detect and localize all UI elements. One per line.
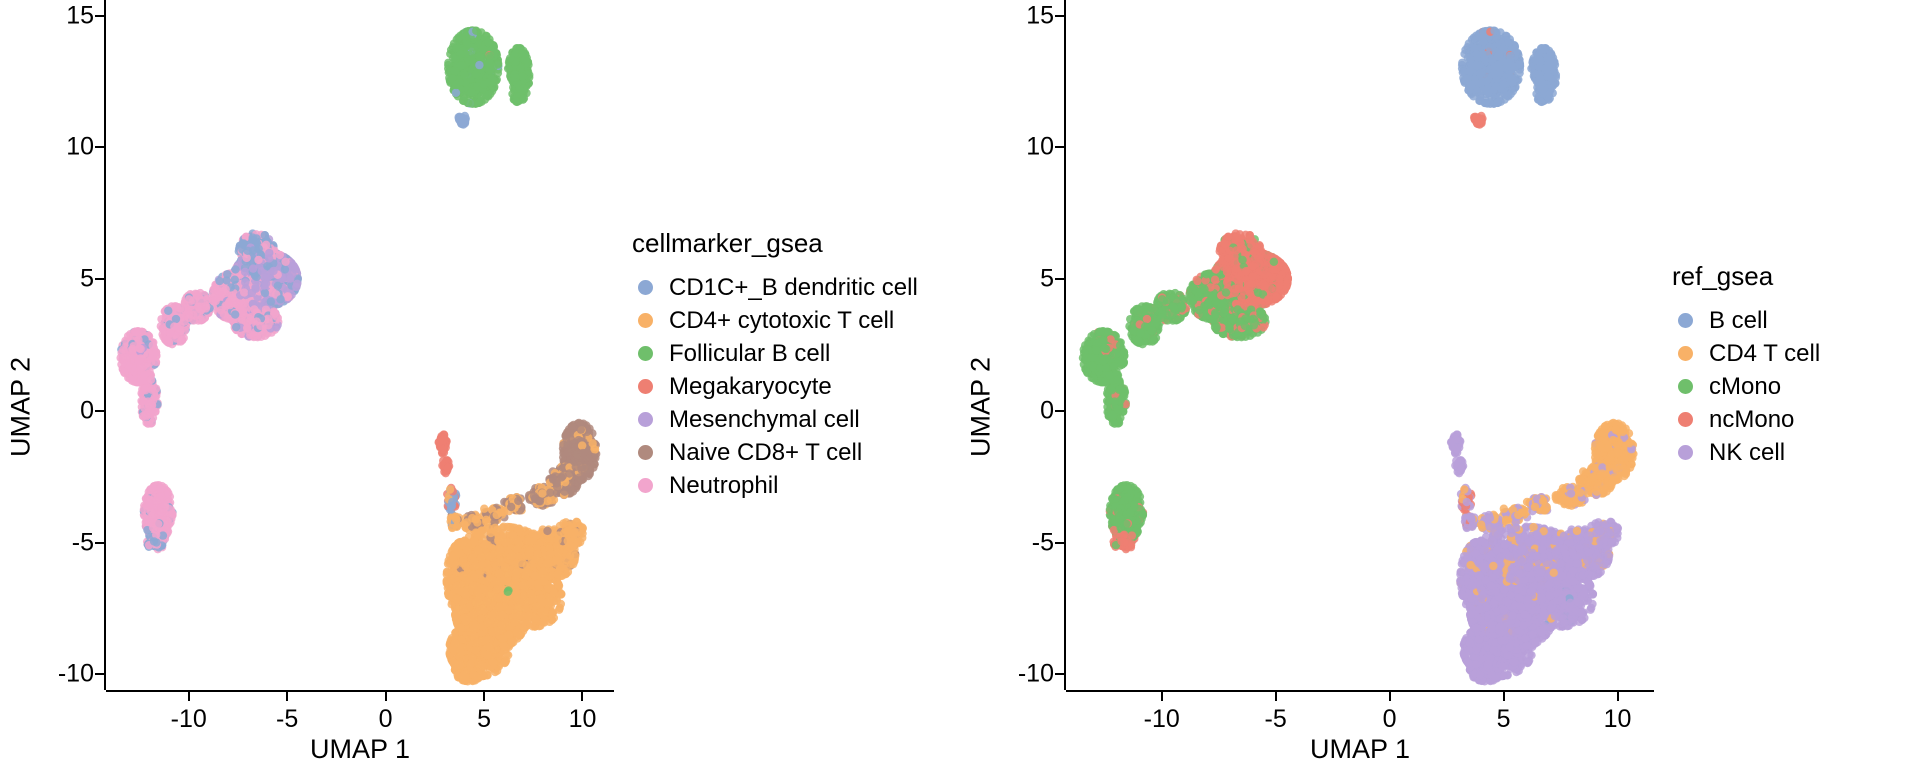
y-tick-label: 0: [80, 396, 94, 425]
legend-key-dot-icon: [630, 372, 660, 402]
legend-item[interactable]: CD4 T cell: [1670, 339, 1920, 369]
y-axis-ticks-right: -10-5051015: [1002, 0, 1064, 690]
x-tick-label: 10: [1604, 705, 1632, 734]
y-tick-mark: [1055, 146, 1064, 148]
y-tick-mark: [95, 146, 104, 148]
legend-item[interactable]: ncMono: [1670, 405, 1920, 435]
x-tick-label: 0: [379, 705, 393, 734]
plot-area-right: [1066, 0, 1654, 690]
scatter-canvas-right: [1066, 0, 1654, 690]
legend-key-dot-icon: [1670, 306, 1700, 336]
legend-item-label: NK cell: [1709, 439, 1785, 467]
x-axis-label-left: UMAP 1: [42, 732, 614, 768]
legend-title-left: cellmarker_gsea: [632, 228, 960, 259]
legend-item-label: cMono: [1709, 373, 1781, 401]
legend-key-dot-icon: [630, 438, 660, 468]
legend-ref-gsea: ref_gsea B cellCD4 T cellcMononcMonoNK c…: [1654, 0, 1920, 768]
scatter-canvas-left: [106, 0, 614, 690]
y-tick-label: 10: [1026, 133, 1054, 162]
legend-cellmarker-gsea: cellmarker_gsea CD1C+_B dendritic cellCD…: [614, 0, 960, 768]
y-tick-mark: [1055, 15, 1064, 17]
y-tick-label: 5: [80, 265, 94, 294]
x-tick-mark: [1617, 692, 1619, 701]
legend-key-dot-icon: [1670, 339, 1700, 369]
y-tick-label: 5: [1040, 265, 1054, 294]
y-tick-label: -5: [72, 528, 94, 557]
x-axis-ticks-right: -10-50510: [1066, 692, 1654, 732]
x-tick-label: 5: [477, 705, 491, 734]
legend-item[interactable]: Neutrophil: [630, 471, 960, 501]
legend-key-dot-icon: [630, 273, 660, 303]
legend-key-dot-icon: [1670, 438, 1700, 468]
y-tick-mark: [1055, 410, 1064, 412]
y-tick-mark: [95, 278, 104, 280]
y-tick-label: 15: [66, 1, 94, 30]
y-tick-label: 15: [1026, 1, 1054, 30]
legend-item[interactable]: CD1C+_B dendritic cell: [630, 273, 960, 303]
legend-item-label: ncMono: [1709, 406, 1794, 434]
legend-key-dot-icon: [1670, 405, 1700, 435]
y-axis-label-right: UMAP 2: [960, 0, 1002, 768]
y-axis-label-left: UMAP 2: [0, 0, 42, 768]
legend-item[interactable]: B cell: [1670, 306, 1920, 336]
legend-item[interactable]: Megakaryocyte: [630, 372, 960, 402]
legend-item[interactable]: CD4+ cytotoxic T cell: [630, 306, 960, 336]
y-tick-label: -5: [1032, 528, 1054, 557]
x-tick-mark: [581, 692, 583, 701]
x-tick-label: -5: [1265, 705, 1287, 734]
legend-key-dot-icon: [630, 405, 660, 435]
y-axis-ticks-left: -10-5051015: [42, 0, 104, 690]
x-tick-mark: [286, 692, 288, 701]
legend-item[interactable]: Follicular B cell: [630, 339, 960, 369]
y-tick-mark: [95, 15, 104, 17]
x-tick-mark: [188, 692, 190, 701]
legend-item[interactable]: cMono: [1670, 372, 1920, 402]
x-tick-mark: [1275, 692, 1277, 701]
legend-key-dot-icon: [630, 471, 660, 501]
x-tick-label: 0: [1383, 705, 1397, 734]
legend-item[interactable]: Naive CD8+ T cell: [630, 438, 960, 468]
legend-item[interactable]: NK cell: [1670, 438, 1920, 468]
x-tick-label: -10: [171, 705, 207, 734]
y-tick-label: 10: [66, 133, 94, 162]
x-tick-label: 5: [1497, 705, 1511, 734]
panel-ref-gsea: UMAP 2 -10-5051015 -10-50510 UMAP 1 ref_…: [960, 0, 1920, 768]
y-tick-mark: [1055, 673, 1064, 675]
y-tick-label: -10: [58, 660, 94, 689]
x-tick-label: -10: [1144, 705, 1180, 734]
legend-key-dot-icon: [630, 339, 660, 369]
legend-item-label: B cell: [1709, 307, 1768, 335]
x-tick-label: 10: [569, 705, 597, 734]
x-tick-mark: [385, 692, 387, 701]
y-tick-mark: [1055, 278, 1064, 280]
y-tick-label: 0: [1040, 396, 1054, 425]
x-axis-label-right: UMAP 1: [1002, 732, 1654, 768]
y-tick-mark: [95, 410, 104, 412]
figure-root: UMAP 2 -10-5051015 -10-50510 UMAP 1 cell…: [0, 0, 1920, 768]
x-tick-mark: [1389, 692, 1391, 701]
panel-cellmarker-gsea: UMAP 2 -10-5051015 -10-50510 UMAP 1 cell…: [0, 0, 960, 768]
legend-key-dot-icon: [1670, 372, 1700, 402]
y-tick-label: -10: [1018, 660, 1054, 689]
legend-item-label: CD1C+_B dendritic cell: [669, 274, 918, 302]
legend-item-label: Follicular B cell: [669, 340, 830, 368]
y-tick-mark: [95, 542, 104, 544]
x-axis-ticks-left: -10-50510: [106, 692, 614, 732]
legend-item-label: Megakaryocyte: [669, 373, 832, 401]
plot-area-left: [106, 0, 614, 690]
x-tick-mark: [483, 692, 485, 701]
x-tick-mark: [1503, 692, 1505, 701]
x-tick-mark: [1161, 692, 1163, 701]
legend-item[interactable]: Mesenchymal cell: [630, 405, 960, 435]
legend-item-label: Neutrophil: [669, 472, 778, 500]
legend-item-label: Naive CD8+ T cell: [669, 439, 862, 467]
legend-key-dot-icon: [630, 306, 660, 336]
legend-item-label: Mesenchymal cell: [669, 406, 860, 434]
legend-item-label: CD4+ cytotoxic T cell: [669, 307, 894, 335]
legend-title-right: ref_gsea: [1672, 261, 1920, 292]
y-tick-mark: [95, 673, 104, 675]
x-tick-label: -5: [276, 705, 298, 734]
legend-item-label: CD4 T cell: [1709, 340, 1820, 368]
y-tick-mark: [1055, 542, 1064, 544]
